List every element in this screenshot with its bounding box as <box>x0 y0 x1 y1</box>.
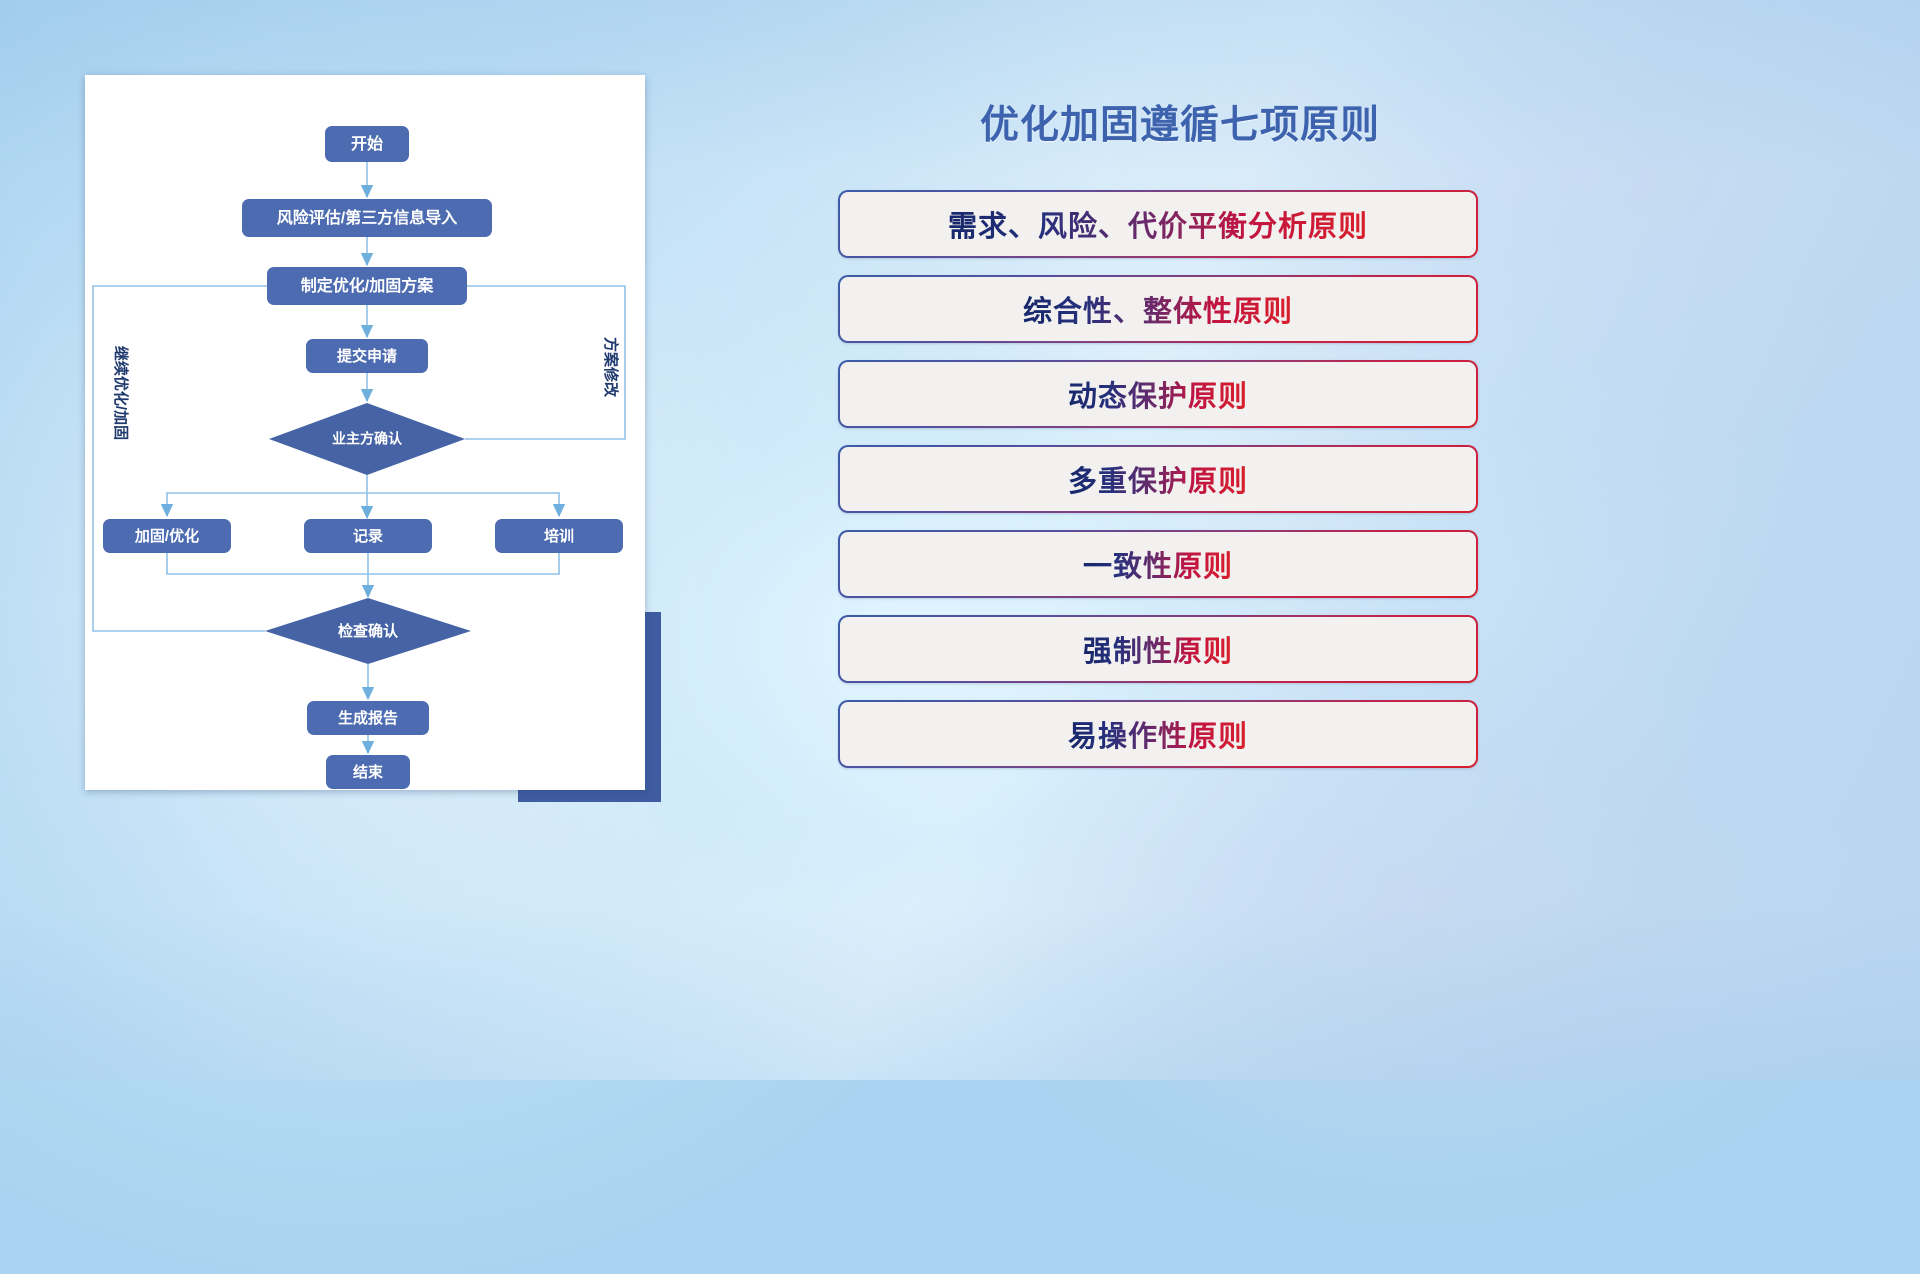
flow-node-label: 风险评估/第三方信息导入 <box>277 208 457 227</box>
flow-node-make-plan[interactable]: 制定优化/加固方案 <box>267 267 467 305</box>
principle-label: 易操作性原则 <box>1068 713 1248 755</box>
flowchart-diagram: 开始 风险评估/第三方信息导入 制定优化/加固方案 提交申请 业主方确认 <box>85 75 645 790</box>
flowchart-panel: 开始 风险评估/第三方信息导入 制定优化/加固方案 提交申请 业主方确认 <box>85 75 645 790</box>
flow-node-training[interactable]: 培训 <box>495 519 623 553</box>
principle-card[interactable]: 易操作性原则 <box>838 700 1478 768</box>
flow-node-label: 业主方确认 <box>332 431 403 447</box>
flow-node-end[interactable]: 结束 <box>326 755 410 789</box>
principle-label: 动态保护原则 <box>1068 373 1248 415</box>
principle-label: 强制性原则 <box>1083 628 1233 670</box>
principle-label: 需求、风险、代价平衡分析原则 <box>948 203 1368 245</box>
flow-node-risk-assessment[interactable]: 风险评估/第三方信息导入 <box>242 199 492 237</box>
flow-node-check-confirm[interactable]: 检查确认 <box>265 598 471 664</box>
principle-label: 多重保护原则 <box>1068 458 1248 500</box>
flow-node-label: 开始 <box>351 134 383 153</box>
flow-node-generate-report[interactable]: 生成报告 <box>307 701 429 735</box>
principle-card[interactable]: 一致性原则 <box>838 530 1478 598</box>
flow-node-label: 提交申请 <box>337 347 397 365</box>
rail-label-continue-optimize: 继续优化/加固 <box>112 346 130 440</box>
flow-node-reinforce-optimize[interactable]: 加固/优化 <box>103 519 231 553</box>
flow-node-start[interactable]: 开始 <box>325 126 409 162</box>
principle-card[interactable]: 强制性原则 <box>838 615 1478 683</box>
flow-node-label: 生成报告 <box>338 709 398 727</box>
principles-panel: 优化加固遵循七项原则 需求、风险、代价平衡分析原则 综合性、整体性原则 动态保护… <box>830 72 1530 862</box>
rail-label-plan-revision: 方案修改 <box>602 337 620 398</box>
principle-card[interactable]: 综合性、整体性原则 <box>838 275 1478 343</box>
principle-card[interactable]: 动态保护原则 <box>838 360 1478 428</box>
flow-node-label: 加固/优化 <box>134 527 199 545</box>
flow-node-record[interactable]: 记录 <box>304 519 432 553</box>
flow-node-label: 检查确认 <box>338 622 399 640</box>
principles-list: 需求、风险、代价平衡分析原则 综合性、整体性原则 动态保护原则 多重保护原则 一… <box>838 190 1478 785</box>
flow-node-owner-confirm[interactable]: 业主方确认 <box>269 403 465 475</box>
flow-node-label: 制定优化/加固方案 <box>301 276 434 295</box>
principle-label: 综合性、整体性原则 <box>1023 288 1293 330</box>
flow-node-label: 记录 <box>353 528 383 545</box>
principle-card[interactable]: 需求、风险、代价平衡分析原则 <box>838 190 1478 258</box>
principles-title: 优化加固遵循七项原则 <box>830 94 1530 150</box>
principle-card[interactable]: 多重保护原则 <box>838 445 1478 513</box>
flow-nodes: 开始 风险评估/第三方信息导入 制定优化/加固方案 提交申请 业主方确认 <box>103 126 623 789</box>
flow-node-label: 结束 <box>353 763 384 781</box>
flow-node-submit-application[interactable]: 提交申请 <box>306 339 428 373</box>
flow-node-label: 培训 <box>544 527 574 545</box>
principle-label: 一致性原则 <box>1083 543 1233 585</box>
